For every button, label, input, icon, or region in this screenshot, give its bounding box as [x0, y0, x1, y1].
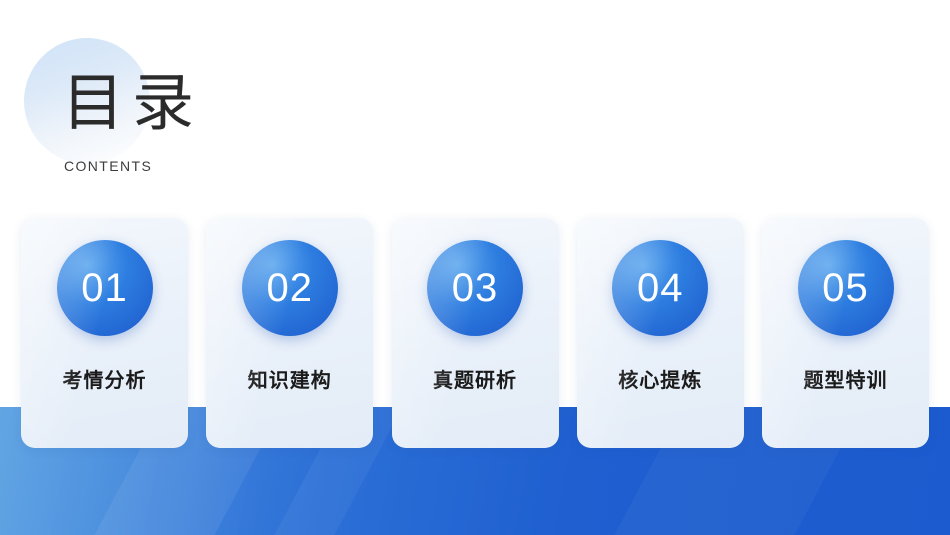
contents-card-2[interactable]: 02 知识建构	[206, 218, 373, 448]
card-number-4: 04	[637, 268, 684, 308]
card-label-4: 核心提炼	[577, 364, 744, 393]
title-block: 目录 CONTENTS	[24, 38, 324, 188]
card-label-5: 题型特训	[762, 364, 929, 393]
card-label-2: 知识建构	[206, 364, 373, 393]
contents-card-list: 01 考情分析 02 知识建构 03 真题研析 04 核心提炼 05	[21, 218, 929, 448]
number-badge-4: 04	[612, 240, 708, 336]
card-label-1: 考情分析	[21, 364, 188, 393]
card-number-2: 02	[267, 268, 314, 308]
card-number-3: 03	[452, 268, 499, 308]
slide-root: 目录 CONTENTS 01 考情分析 02 知识建构 03 真题研析 04	[0, 0, 950, 535]
number-badge-3: 03	[427, 240, 523, 336]
number-badge-5: 05	[798, 240, 894, 336]
contents-card-4[interactable]: 04 核心提炼	[577, 218, 744, 448]
card-number-5: 05	[822, 268, 869, 308]
page-title: 目录	[62, 66, 202, 142]
page-subtitle: CONTENTS	[64, 158, 152, 174]
card-number-1: 01	[81, 268, 128, 308]
contents-card-3[interactable]: 03 真题研析	[392, 218, 559, 448]
number-badge-2: 02	[242, 240, 338, 336]
contents-card-1[interactable]: 01 考情分析	[21, 218, 188, 448]
card-label-3: 真题研析	[392, 364, 559, 393]
number-badge-1: 01	[57, 240, 153, 336]
contents-card-5[interactable]: 05 题型特训	[762, 218, 929, 448]
